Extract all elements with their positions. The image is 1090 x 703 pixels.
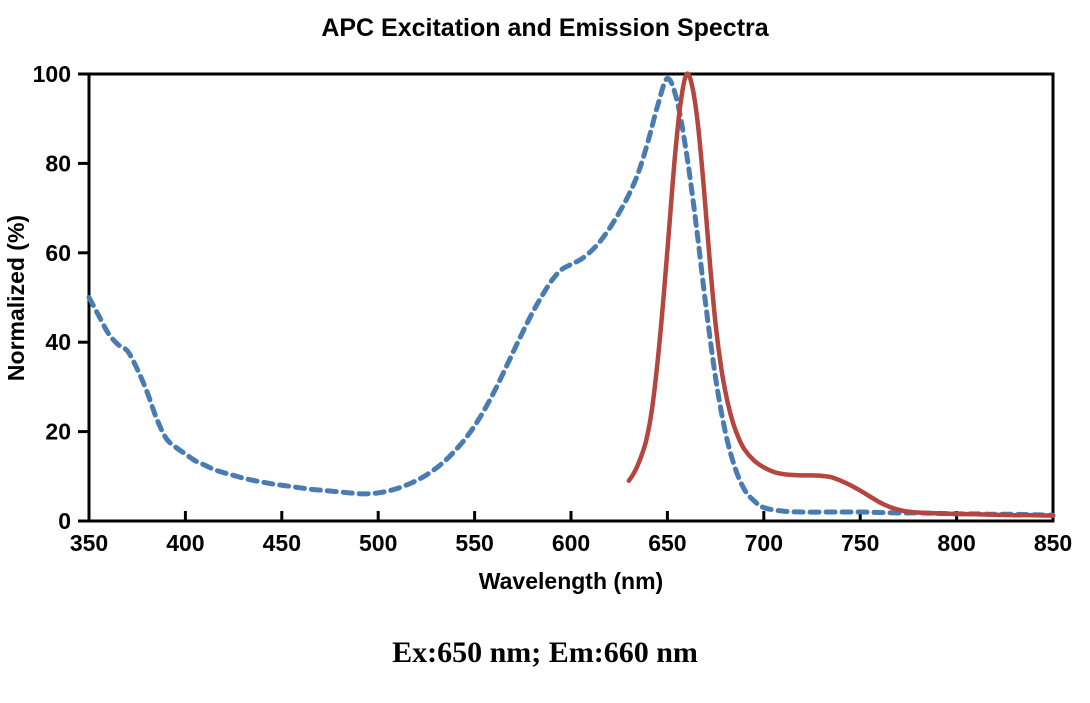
x-axis-title: Wavelength (nm) xyxy=(479,568,663,594)
x-axis-ticks: 350400450500550600650700750800850 xyxy=(70,511,1072,556)
figure-container: APC Excitation and Emission Spectra 3504… xyxy=(0,0,1090,703)
x-tick-label-700: 700 xyxy=(745,530,783,556)
x-tick-label-350: 350 xyxy=(70,530,108,556)
y-tick-label-40: 40 xyxy=(45,329,71,355)
spectra-plot: 350400450500550600650700750800850 020406… xyxy=(0,0,1090,703)
x-tick-label-500: 500 xyxy=(359,530,397,556)
x-tick-label-800: 800 xyxy=(937,530,975,556)
x-tick-label-450: 450 xyxy=(263,530,301,556)
x-tick-label-850: 850 xyxy=(1034,530,1072,556)
x-tick-label-550: 550 xyxy=(455,530,493,556)
x-tick-label-400: 400 xyxy=(166,530,204,556)
y-axis-ticks: 020406080100 xyxy=(33,61,89,534)
x-tick-label-750: 750 xyxy=(841,530,879,556)
y-tick-label-80: 80 xyxy=(45,150,71,176)
y-tick-label-100: 100 xyxy=(33,61,71,87)
y-tick-label-20: 20 xyxy=(45,419,71,445)
x-tick-label-600: 600 xyxy=(552,530,590,556)
y-tick-label-0: 0 xyxy=(58,508,71,534)
figure-caption: Ex:650 nm; Em:660 nm xyxy=(0,636,1090,670)
y-axis-title: Normalized (%) xyxy=(3,215,29,381)
x-tick-label-650: 650 xyxy=(648,530,686,556)
plot-frame xyxy=(89,74,1053,521)
y-tick-label-60: 60 xyxy=(45,240,71,266)
excitation-curve xyxy=(89,78,1053,515)
emission-curve xyxy=(629,74,1053,516)
